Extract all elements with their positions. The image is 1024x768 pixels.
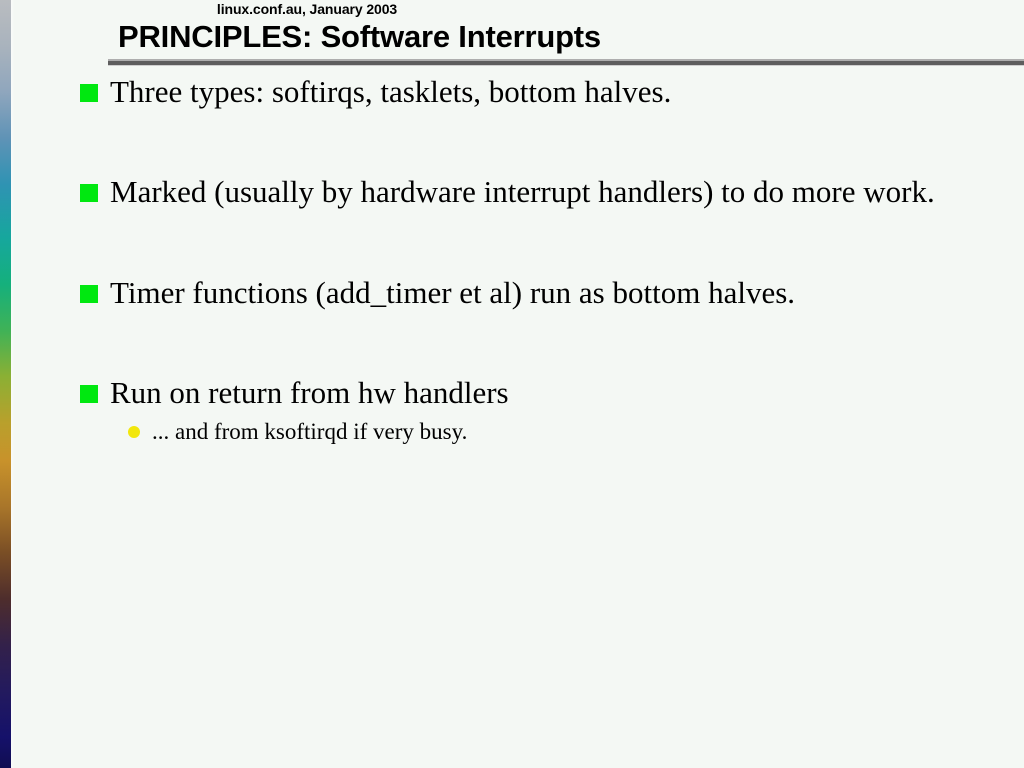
green-square-bullet-icon: [80, 285, 98, 303]
bullet-text: Timer functions (add_timer et al) run as…: [110, 271, 940, 315]
green-square-bullet-icon: [80, 385, 98, 403]
bullet-text: Marked (usually by hardware interrupt ha…: [110, 170, 940, 214]
spacer: [0, 114, 1024, 170]
sub-bullet-text: ... and from ksoftirqd if very busy.: [152, 415, 952, 448]
spacer: [0, 214, 1024, 271]
list-item: Marked (usually by hardware interrupt ha…: [0, 170, 1024, 214]
bullet-text: Three types: softirqs, tasklets, bottom …: [110, 70, 940, 114]
list-item: Run on return from hw handlers: [0, 371, 1024, 415]
green-square-bullet-icon: [80, 184, 98, 202]
title-separator-rule: [108, 59, 1024, 66]
slide-title: PRINCIPLES: Software Interrupts: [118, 19, 601, 55]
rule-shadow: [108, 65, 1024, 66]
yellow-dot-bullet-icon: [128, 426, 140, 438]
slide-body-list: Three types: softirqs, tasklets, bottom …: [0, 70, 1024, 448]
spacer: [0, 315, 1024, 371]
list-item: Three types: softirqs, tasklets, bottom …: [0, 70, 1024, 114]
conference-header: linux.conf.au, January 2003: [0, 1, 1024, 17]
bullet-text: Run on return from hw handlers: [110, 371, 940, 415]
list-item: Timer functions (add_timer et al) run as…: [0, 271, 1024, 315]
sub-list-item: ... and from ksoftirqd if very busy.: [0, 415, 1024, 448]
green-square-bullet-icon: [80, 84, 98, 102]
presentation-slide: linux.conf.au, January 2003 PRINCIPLES: …: [0, 0, 1024, 768]
